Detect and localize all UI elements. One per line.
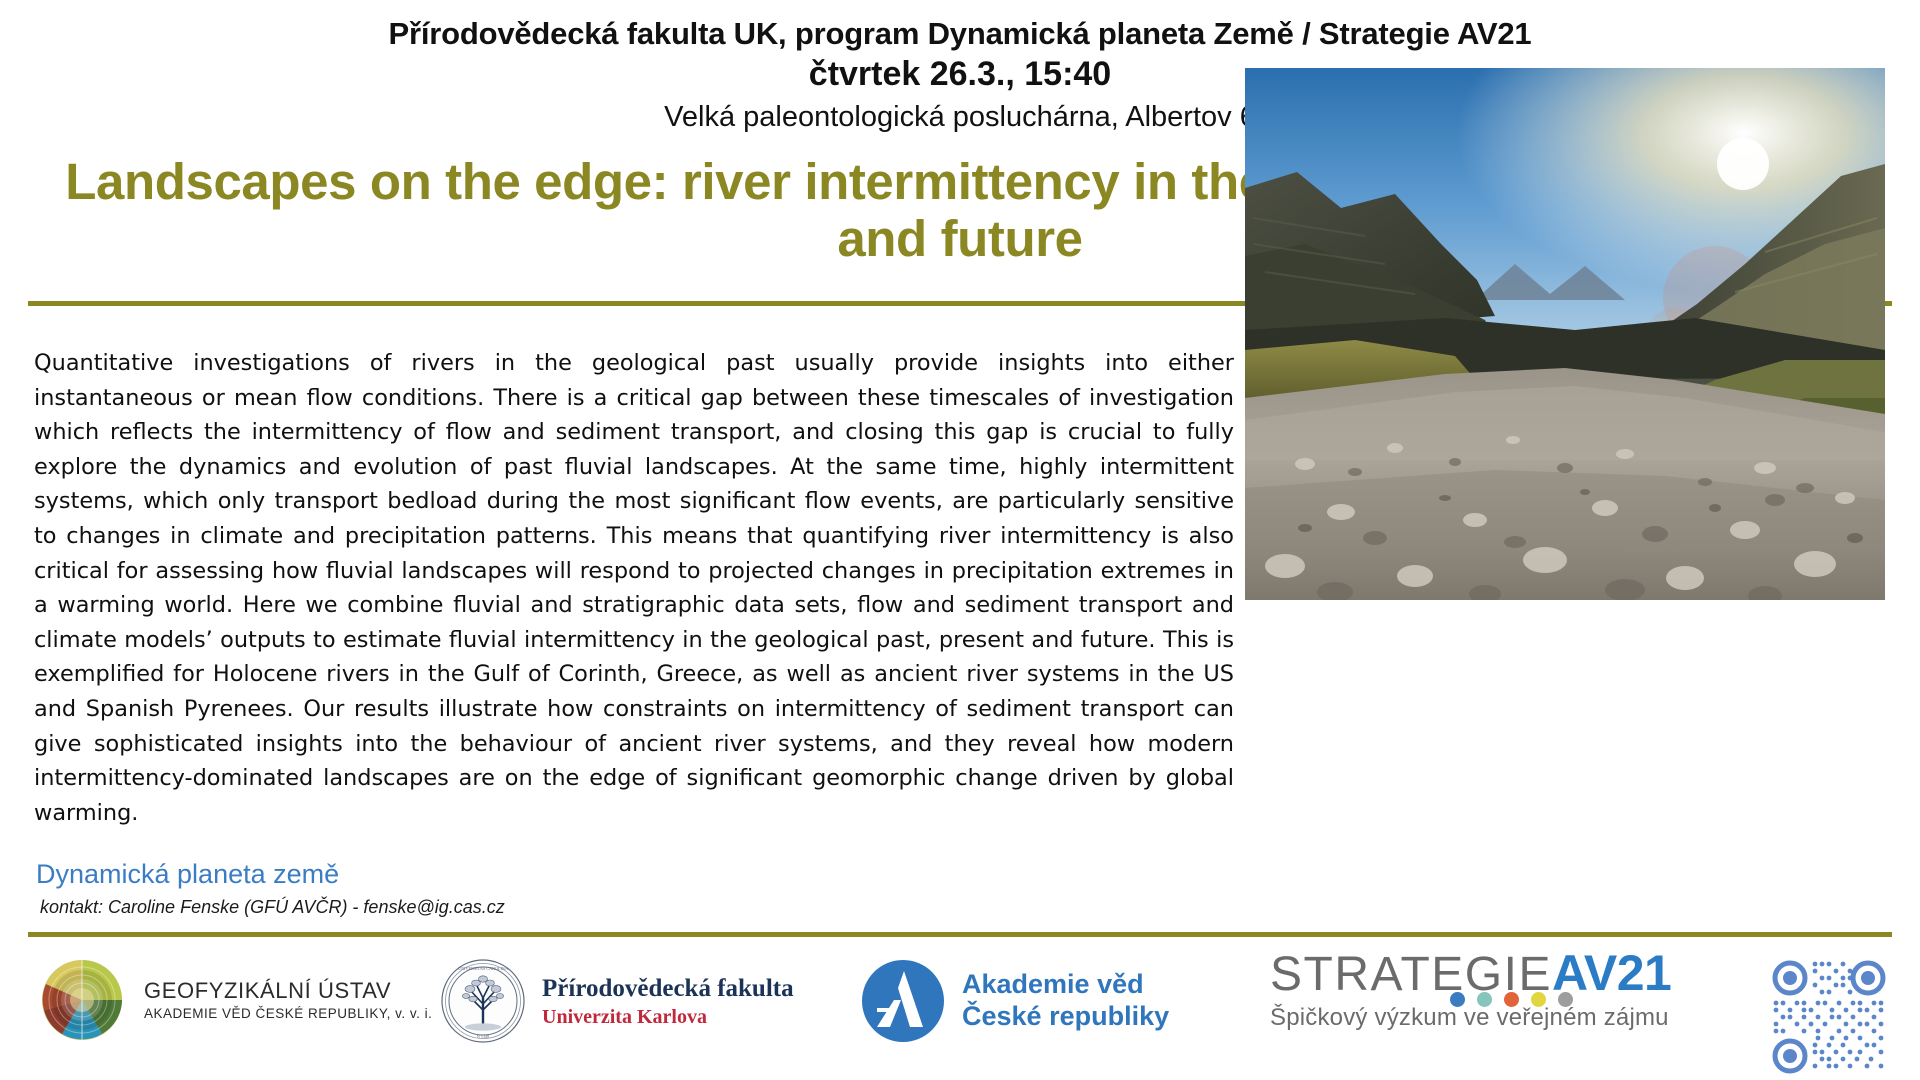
- geofyzika-circle-icon: [36, 954, 128, 1046]
- av21-dot-4: [1531, 992, 1546, 1007]
- abstract-text: Quantitative investigations of rivers in…: [34, 346, 1234, 830]
- logo-geofyzikalni-ustav: GEOFYZIKÁLNÍ ÚSTAV AKADEMIE VĚD ČESKÉ RE…: [36, 954, 432, 1046]
- program-label: Dynamická planeta země: [36, 858, 339, 890]
- riverbed-photo-illustration: [1245, 68, 1885, 600]
- logo-prirodovedecka-fakulta: UNIVERSITAS CAROLINA N 1348 Přírodovědec…: [440, 958, 794, 1044]
- av21-tagline: Špičkový výzkum ve veřejném zájmu: [1270, 1004, 1671, 1032]
- prf-subtitle: Univerzita Karlova: [542, 1005, 794, 1029]
- av21-dot-3: [1504, 992, 1519, 1007]
- av21-dot-row: [1450, 992, 1573, 1007]
- prf-title: Přírodovědecká fakulta: [542, 974, 794, 1004]
- charles-university-seal-icon: UNIVERSITAS CAROLINA N 1348: [440, 958, 526, 1044]
- avcr-line2: České republiky: [962, 1001, 1169, 1033]
- poster-root: Přírodovědecká fakulta UK, program Dynam…: [0, 0, 1920, 1080]
- gfu-title: GEOFYZIKÁLNÍ ÚSTAV: [144, 978, 432, 1003]
- divider-bottom: [28, 932, 1892, 937]
- svg-text:UNIVERSITAS CAROLINA: UNIVERSITAS CAROLINA: [458, 966, 508, 971]
- av21-dot-1: [1450, 992, 1465, 1007]
- gfu-subtitle: AKADEMIE VĚD ČESKÉ REPUBLIKY, v. v. i.: [144, 1006, 432, 1022]
- prf-text-block: Přírodovědecká fakulta Univerzita Karlov…: [542, 974, 794, 1029]
- avcr-line1: Akademie věd: [962, 969, 1169, 1001]
- av21-word-av21: AV21: [1552, 948, 1671, 998]
- svg-text:N 1348: N 1348: [477, 1034, 489, 1039]
- avcr-text-block: Akademie věd České republiky: [962, 969, 1169, 1033]
- contact-line: kontakt: Caroline Fenske (GFÚ AVČR) - fe…: [40, 897, 505, 919]
- qr-code[interactable]: [1770, 958, 1888, 1076]
- footer-logos: GEOFYZIKÁLNÍ ÚSTAV AKADEMIE VĚD ČESKÉ RE…: [0, 944, 1920, 1080]
- av21-dot-2: [1477, 992, 1492, 1007]
- logo-strategie-av21: STRATEGIE AV21 Špičkový výzkum ve veřejn…: [1270, 948, 1671, 1032]
- speaker-photo: [1245, 68, 1885, 600]
- header-institution-line: Přírodovědecká fakulta UK, program Dynam…: [0, 16, 1920, 53]
- qr-code-icon[interactable]: [1770, 958, 1888, 1076]
- gfu-text-block: GEOFYZIKÁLNÍ ÚSTAV AKADEMIE VĚD ČESKÉ RE…: [144, 978, 432, 1021]
- av21-dot-5: [1558, 992, 1573, 1007]
- akademie-ved-a-icon: [860, 958, 946, 1044]
- logo-akademie-ved: Akademie věd České republiky: [860, 958, 1169, 1044]
